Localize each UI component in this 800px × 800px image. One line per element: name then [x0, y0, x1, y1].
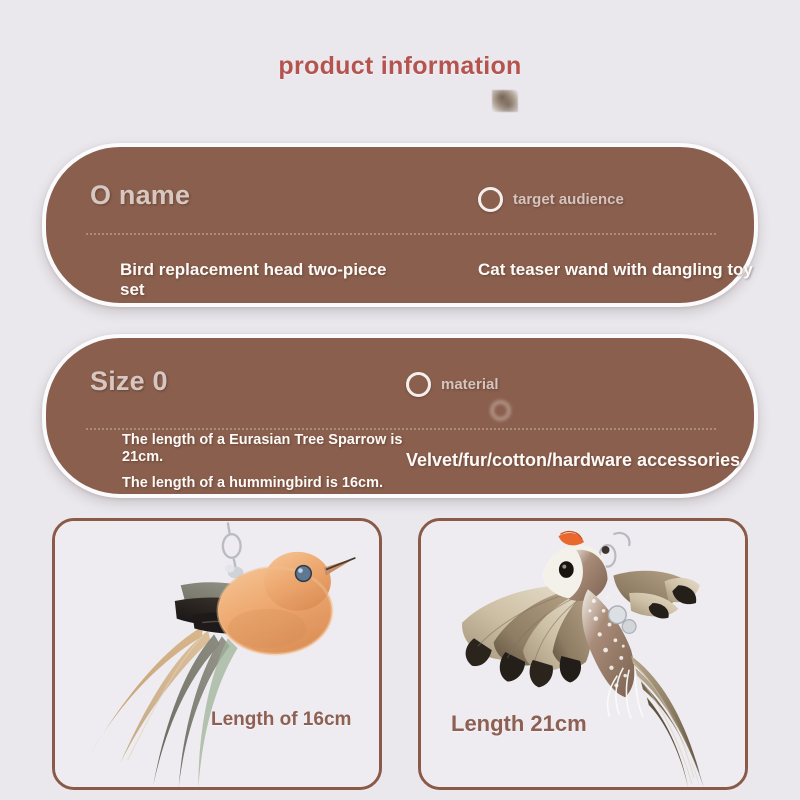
- card-size-right-value: Velvet/fur/cotton/hardware accessories: [406, 450, 746, 471]
- photo-left-caption: Length of 16cm: [211, 709, 351, 731]
- card-name-right-heading-group: target audience: [478, 187, 624, 212]
- page-title: product information: [278, 52, 521, 81]
- card-size-right-heading-group: material: [406, 372, 499, 397]
- card-name-right-value: Cat teaser wand with dangling toy: [478, 260, 778, 280]
- photo-right-caption: Length 21cm: [451, 711, 587, 737]
- size-line: The length of a hummingbird is 16cm.: [122, 475, 422, 492]
- feathered-bird-toy-illustration: [421, 521, 745, 787]
- card-size-left-heading: Size 0: [90, 366, 168, 397]
- info-card-size: Size 0 material The length of a Eurasian…: [42, 334, 758, 498]
- orange-plush-bird-toy-illustration: [55, 521, 379, 787]
- info-card-name: O name target audience Bird replacement …: [42, 143, 758, 307]
- circle-ring-icon: [406, 372, 431, 397]
- card-name-right-heading: target audience: [513, 191, 624, 208]
- card-size-left-values: The length of a Eurasian Tree Sparrow is…: [122, 432, 422, 500]
- card-size-divider: [86, 428, 716, 430]
- page-title-area: product information: [0, 52, 800, 81]
- card-name-left-heading: O name: [90, 180, 190, 211]
- card-name-divider: [86, 233, 716, 235]
- card-size-left-heading-group: Size 0: [90, 366, 168, 397]
- card-name-left-value: Bird replacement head two-piece set: [120, 260, 410, 300]
- circle-ring-ghost-artifact: [490, 400, 511, 421]
- card-name-left-heading-group: O name: [90, 180, 190, 211]
- product-photo-left[interactable]: Length of 16cm: [52, 518, 382, 790]
- product-photo-right[interactable]: Length 21cm: [418, 518, 748, 790]
- card-size-right-heading: material: [441, 376, 499, 393]
- title-smudge-artifact: [492, 90, 518, 112]
- size-line: The length of a Eurasian Tree Sparrow is…: [122, 432, 422, 467]
- circle-ring-icon: [478, 187, 503, 212]
